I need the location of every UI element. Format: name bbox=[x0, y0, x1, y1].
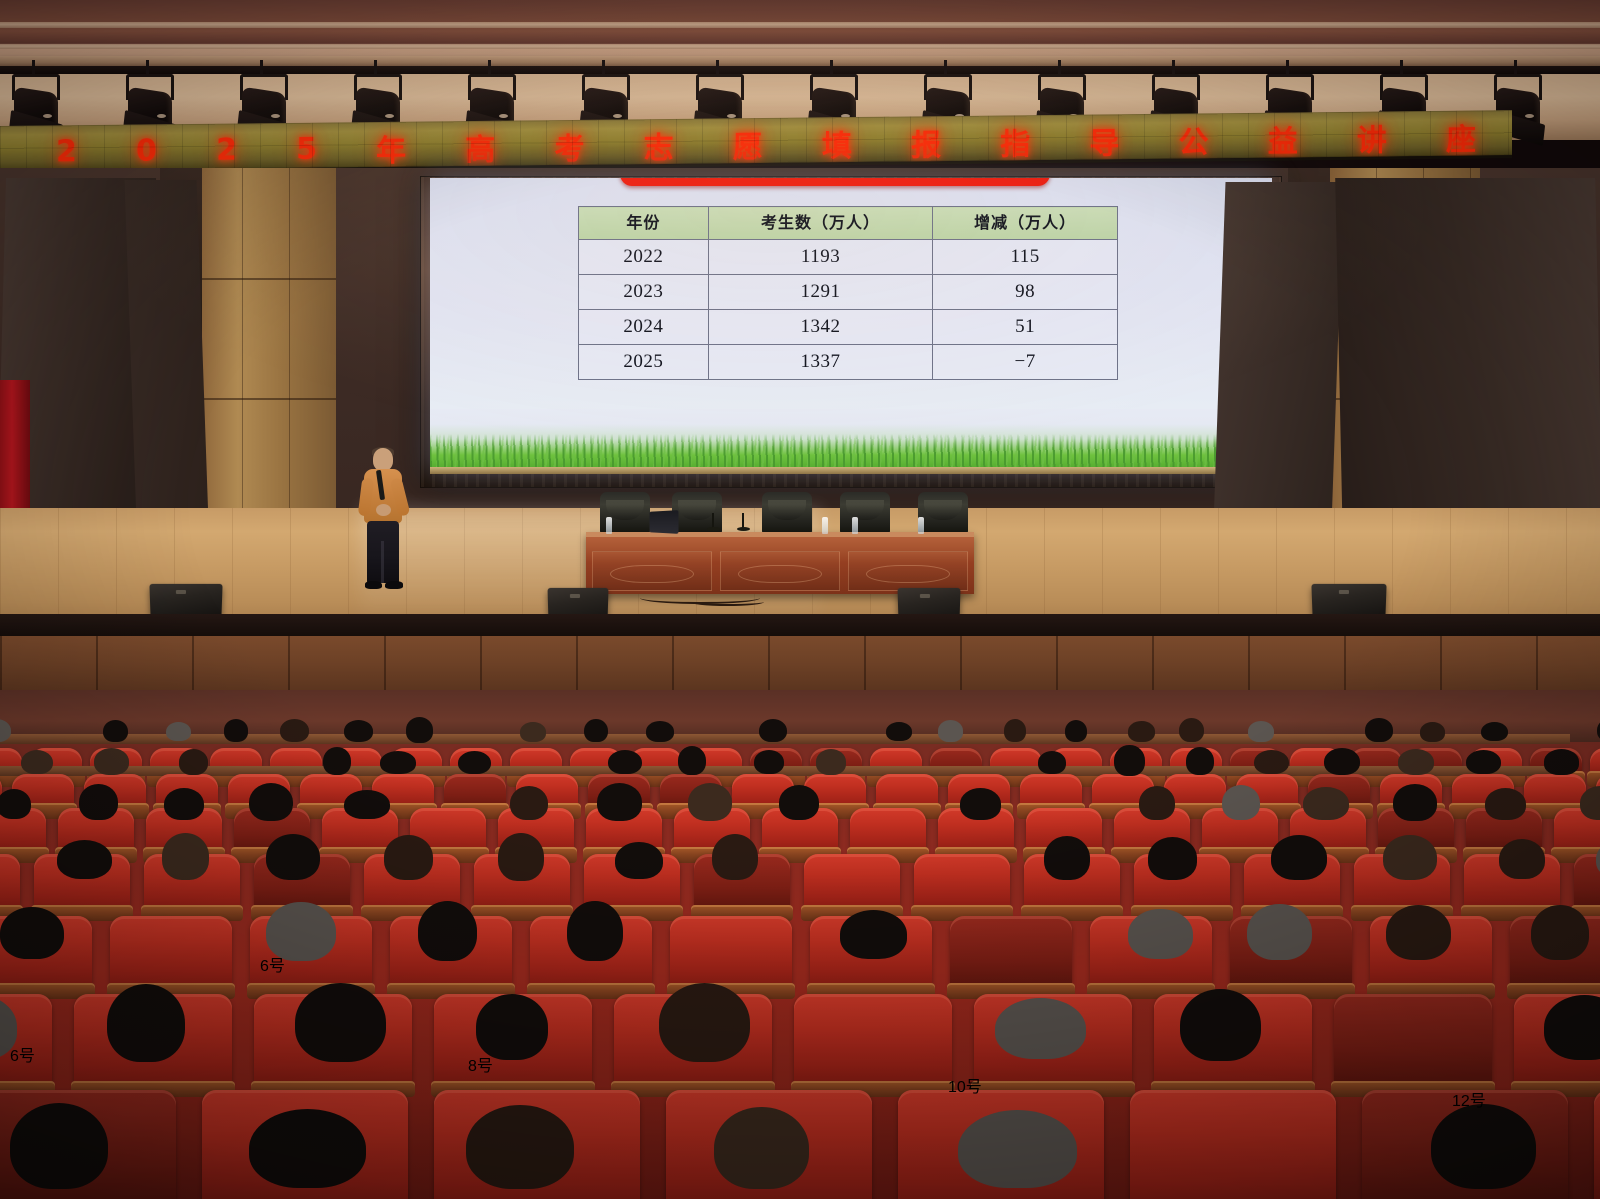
cell-change: 51 bbox=[933, 310, 1118, 345]
seat-number-plate: 6号 bbox=[10, 1042, 35, 1066]
led-char-6: 考 bbox=[554, 124, 584, 168]
audience-seat bbox=[1130, 1090, 1336, 1199]
water-bottle bbox=[822, 517, 828, 534]
seat-number-plate: 8号 bbox=[468, 1052, 493, 1076]
led-banner-text: 2025年高考志愿填报指导公益讲座 bbox=[56, 115, 1476, 174]
led-char-7: 志 bbox=[644, 123, 674, 167]
led-char-14: 益 bbox=[1268, 116, 1298, 160]
slide-red-ribbon-decoration bbox=[620, 178, 1050, 186]
presenter-trousers bbox=[367, 521, 399, 583]
presenter-head bbox=[373, 448, 393, 471]
led-char-3: 5 bbox=[296, 131, 317, 166]
column-header-candidates: 考生数（万人） bbox=[708, 207, 933, 240]
audience-member-head bbox=[1531, 905, 1589, 960]
floor-cable bbox=[690, 598, 764, 606]
cell-year: 2023 bbox=[579, 275, 709, 310]
water-bottle bbox=[852, 517, 858, 534]
cell-candidate-count: 1291 bbox=[708, 275, 933, 310]
audience-member-head bbox=[0, 907, 64, 959]
seat-row bbox=[0, 1050, 1600, 1199]
led-char-5: 高 bbox=[465, 125, 495, 169]
cell-year: 2025 bbox=[579, 344, 709, 379]
table-body: 202211931152023129198202413425120251337−… bbox=[579, 240, 1118, 379]
laptop-on-table bbox=[650, 510, 679, 534]
audience-member-head bbox=[1499, 839, 1545, 879]
audience-member-head bbox=[712, 834, 758, 880]
audience-member-head bbox=[466, 1105, 574, 1189]
cell-change: −7 bbox=[933, 344, 1118, 379]
stage-monitor-speaker bbox=[1311, 584, 1386, 618]
presenter-shoe-left bbox=[365, 581, 382, 589]
head-table-chair bbox=[840, 492, 890, 534]
cell-year: 2024 bbox=[579, 310, 709, 345]
audience-member-head bbox=[1271, 835, 1327, 880]
cell-change: 98 bbox=[933, 275, 1118, 310]
table-header-row: 年份 考生数（万人） 增减（万人） bbox=[579, 207, 1118, 240]
cell-year: 2022 bbox=[579, 240, 709, 275]
ceiling-strip-lower bbox=[0, 44, 1600, 49]
exam-candidates-table: 年份 考生数（万人） 增减（万人） 2022119311520231291982… bbox=[578, 206, 1118, 380]
table-microphone-base bbox=[707, 527, 720, 531]
cell-change: 115 bbox=[933, 240, 1118, 275]
led-char-8: 愿 bbox=[733, 122, 763, 166]
audience-seat bbox=[1594, 1090, 1600, 1199]
audience-member-head bbox=[249, 1109, 366, 1188]
audience-member-head bbox=[567, 901, 622, 961]
audience-member-head bbox=[162, 833, 210, 880]
head-table-chair bbox=[918, 492, 968, 534]
audience-member-head bbox=[714, 1107, 809, 1189]
seat-number-plate: 12号 bbox=[1452, 1087, 1486, 1111]
table-front-panel-1 bbox=[592, 551, 712, 591]
audience-seating-area: 6号6号8号10号12号 bbox=[0, 690, 1600, 1199]
led-char-0: 2 bbox=[56, 134, 77, 169]
presenter-hands bbox=[376, 504, 391, 516]
audience-member-head bbox=[1247, 904, 1312, 961]
column-header-year: 年份 bbox=[579, 207, 709, 240]
led-char-2: 2 bbox=[216, 132, 237, 167]
auditorium-scene: 2025年高考志愿填报指导公益讲座 年份 考生数（万人） 增减（万人） 2022… bbox=[0, 0, 1600, 1199]
audience-member-head bbox=[1128, 909, 1192, 959]
table-row: 2024134251 bbox=[579, 310, 1118, 345]
audience-member-head bbox=[266, 834, 320, 881]
audience-member-head bbox=[615, 842, 662, 879]
table-row: 20221193115 bbox=[579, 240, 1118, 275]
audience-member-head bbox=[498, 833, 544, 881]
seat-number-plate: 10号 bbox=[948, 1073, 982, 1097]
led-char-4: 年 bbox=[376, 126, 406, 170]
projection-screen: 年份 考生数（万人） 增减（万人） 2022119311520231291982… bbox=[430, 178, 1272, 474]
audience-member-head bbox=[840, 910, 907, 958]
presenter-shoe-right bbox=[385, 581, 403, 589]
audience-member-head bbox=[418, 901, 478, 961]
led-char-13: 公 bbox=[1179, 117, 1209, 161]
ceiling-strip-upper bbox=[0, 22, 1600, 28]
presenter-speaker bbox=[356, 448, 412, 594]
audience-member-head bbox=[384, 835, 433, 880]
audience-member-head bbox=[1383, 835, 1436, 880]
audience-member-head bbox=[1044, 836, 1090, 880]
led-char-11: 指 bbox=[1000, 119, 1030, 163]
led-char-1: 0 bbox=[136, 133, 157, 168]
audience-member-head bbox=[57, 840, 113, 880]
led-char-16: 座 bbox=[1446, 115, 1476, 159]
cell-candidate-count: 1342 bbox=[708, 310, 933, 345]
seat-number-plate: 6号 bbox=[260, 952, 285, 976]
table-microphone bbox=[712, 513, 714, 528]
audience-member-head bbox=[1386, 905, 1451, 960]
column-header-change: 增减（万人） bbox=[933, 207, 1118, 240]
table-row: 20251337−7 bbox=[579, 344, 1118, 379]
led-char-15: 讲 bbox=[1357, 115, 1387, 159]
audience-member-head bbox=[1431, 1104, 1536, 1190]
cell-candidate-count: 1337 bbox=[708, 344, 933, 379]
table-microphone bbox=[742, 513, 744, 528]
led-char-9: 填 bbox=[822, 121, 852, 165]
audience-member-head bbox=[958, 1110, 1078, 1189]
table-microphone-base bbox=[737, 527, 750, 531]
head-table bbox=[586, 532, 974, 594]
table-front-panel-2 bbox=[720, 551, 840, 591]
audience-member-head bbox=[10, 1103, 108, 1189]
water-bottle bbox=[606, 517, 612, 534]
led-char-12: 导 bbox=[1089, 118, 1119, 162]
audience-member-head bbox=[1148, 837, 1197, 879]
head-table-chair bbox=[762, 492, 812, 534]
led-char-10: 报 bbox=[911, 120, 941, 164]
slide-bottom-border bbox=[430, 467, 1272, 474]
cell-candidate-count: 1193 bbox=[708, 240, 933, 275]
stage-monitor-speaker bbox=[149, 584, 222, 618]
water-bottle bbox=[918, 517, 924, 534]
table-row: 2023129198 bbox=[579, 275, 1118, 310]
table-front-panel-3 bbox=[848, 551, 968, 591]
